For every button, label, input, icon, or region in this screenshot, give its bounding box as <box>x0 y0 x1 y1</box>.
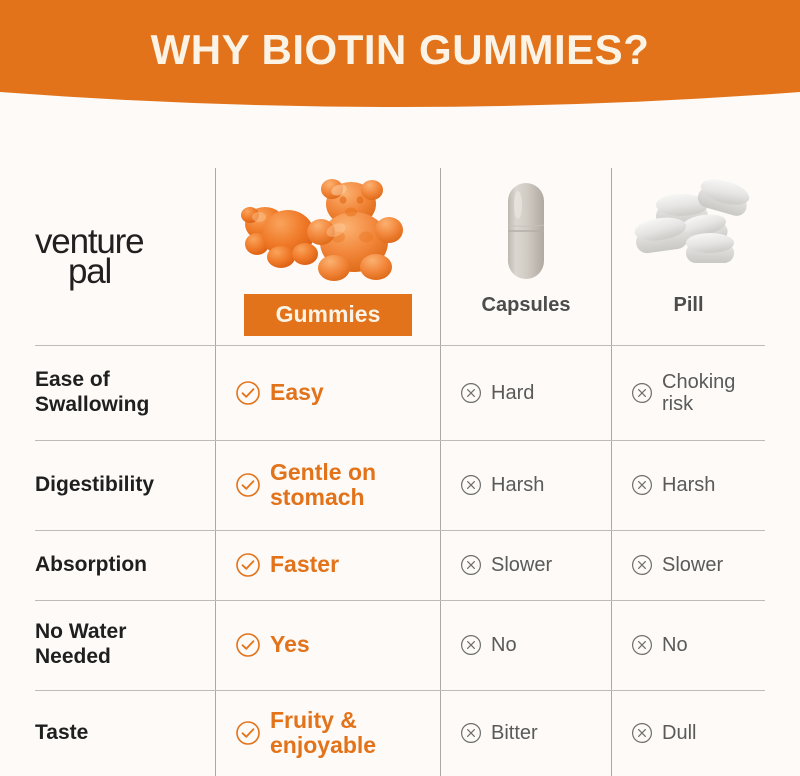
column-header-pill: Pill <box>612 168 765 345</box>
cell-value: Harsh <box>491 474 544 496</box>
cell-value-line-1: Gentle on <box>270 460 376 485</box>
cell-value: Slower <box>491 554 552 576</box>
row-label-no-water-needed: No Water Needed <box>35 600 215 690</box>
check-circle-icon <box>235 632 261 658</box>
cell-value-line-1: Choking <box>662 371 735 393</box>
check-circle-icon <box>235 552 261 578</box>
cross-circle-icon <box>460 634 482 656</box>
cell-value: Choking risk <box>662 371 735 415</box>
cell-pill-no-water-needed: No <box>631 600 688 690</box>
row-label-absorption: Absorption <box>35 530 215 600</box>
cell-gummies-no-water-needed: Yes <box>235 600 310 690</box>
cell-value: Yes <box>270 632 310 657</box>
check-circle-icon <box>235 720 261 746</box>
comparison-table: venture pal <box>35 168 765 776</box>
cell-value: No <box>491 634 517 656</box>
cell-value: Easy <box>270 380 324 405</box>
cell-pill-absorption: Slower <box>631 530 723 600</box>
row-label-line-1: Ease of <box>35 368 149 393</box>
row-label-line-1: Taste <box>35 721 88 746</box>
cell-capsules-ease-of-swallowing: Hard <box>460 345 534 440</box>
cell-gummies-digestibility: Gentle on stomach <box>235 440 376 530</box>
row-label-line-1: Absorption <box>35 553 147 578</box>
row-label-ease-of-swallowing: Ease of Swallowing <box>35 345 215 440</box>
capsule-image <box>441 168 611 294</box>
column-label-gummies: Gummies <box>216 294 440 336</box>
row-label-taste: Taste <box>35 690 215 776</box>
cell-value: Gentle on stomach <box>270 460 376 511</box>
venture-pal-logo: venture pal <box>35 227 143 286</box>
cell-gummies-ease-of-swallowing: Easy <box>235 345 324 440</box>
gummy-bears-icon <box>233 172 423 290</box>
row-label-line-1: Digestibility <box>35 473 154 498</box>
cross-circle-icon <box>460 382 482 404</box>
column-header-gummies: Gummies <box>216 168 440 345</box>
cell-value: Dull <box>662 722 696 744</box>
row-label-line-1: No Water <box>35 620 126 645</box>
gummies-badge: Gummies <box>244 294 413 336</box>
capsule-icon <box>496 175 556 287</box>
cell-value: No <box>662 634 688 656</box>
cross-circle-icon <box>460 474 482 496</box>
page-title: WHY BIOTIN GUMMIES? <box>0 26 800 74</box>
header-banner: WHY BIOTIN GUMMIES? <box>0 0 800 116</box>
cross-circle-icon <box>460 722 482 744</box>
gummy-bears-image <box>216 168 440 294</box>
cell-pill-taste: Dull <box>631 690 696 776</box>
cell-gummies-taste: Fruity & enjoyable <box>235 690 376 776</box>
pill-tablets-image <box>612 168 765 294</box>
row-label-line-2: Needed <box>35 645 126 670</box>
cell-capsules-no-water-needed: No <box>460 600 517 690</box>
cross-circle-icon <box>631 554 653 576</box>
row-label-line-2: Swallowing <box>35 393 149 418</box>
comparison-infographic: WHY BIOTIN GUMMIES? venture pal <box>0 0 800 776</box>
row-label-digestibility: Digestibility <box>35 440 215 530</box>
cell-capsules-taste: Bitter <box>460 690 538 776</box>
cell-capsules-absorption: Slower <box>460 530 552 600</box>
cell-value: Bitter <box>491 722 538 744</box>
cell-value: Fruity & enjoyable <box>270 708 376 759</box>
brand-logo-cell: venture pal <box>35 168 215 345</box>
cell-pill-digestibility: Harsh <box>631 440 715 530</box>
cell-capsules-digestibility: Harsh <box>460 440 544 530</box>
column-label-capsules: Capsules <box>441 294 611 317</box>
cross-circle-icon <box>631 634 653 656</box>
cell-value-line-1: Fruity & <box>270 708 376 733</box>
cell-value: Faster <box>270 552 339 577</box>
cell-value: Hard <box>491 382 534 404</box>
cell-value-line-2: enjoyable <box>270 733 376 758</box>
cross-circle-icon <box>631 722 653 744</box>
cell-value: Harsh <box>662 474 715 496</box>
pill-tablets-icon <box>626 179 752 283</box>
check-circle-icon <box>235 472 261 498</box>
column-header-capsules: Capsules <box>441 168 611 345</box>
cell-value-line-2: risk <box>662 393 735 415</box>
cell-value: Slower <box>662 554 723 576</box>
cell-value-line-2: stomach <box>270 485 376 510</box>
cross-circle-icon <box>631 474 653 496</box>
cross-circle-icon <box>460 554 482 576</box>
cross-circle-icon <box>631 382 653 404</box>
cell-pill-ease-of-swallowing: Choking risk <box>631 345 735 440</box>
column-label-pill: Pill <box>612 294 765 317</box>
check-circle-icon <box>235 380 261 406</box>
cell-gummies-absorption: Faster <box>235 530 339 600</box>
